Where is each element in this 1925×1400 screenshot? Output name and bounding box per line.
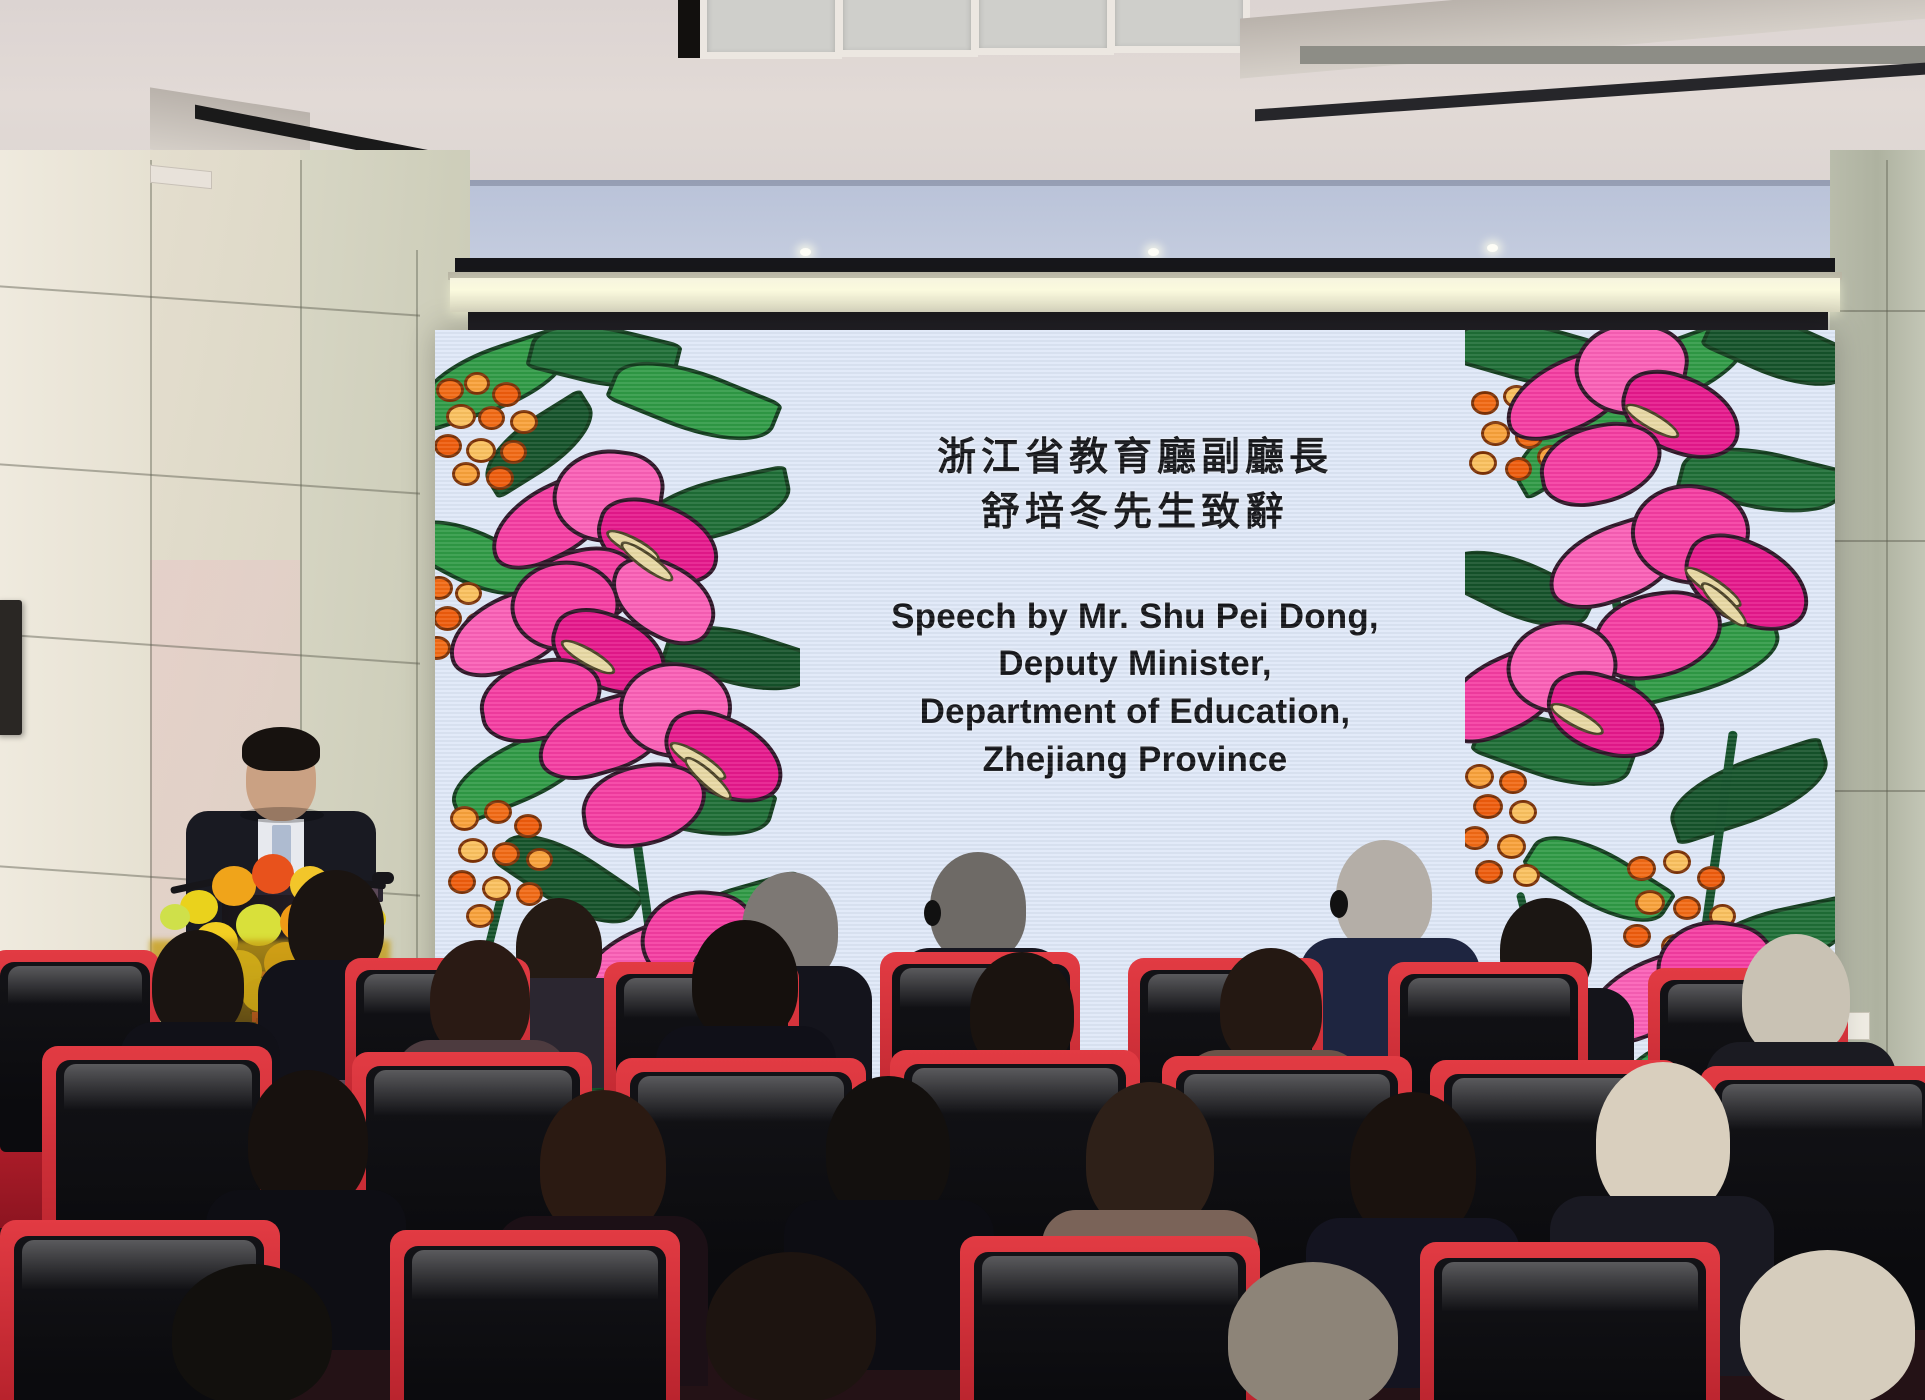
slide-english-line-1: Speech by Mr. Shu Pei Dong, xyxy=(891,593,1379,641)
audience-head xyxy=(1336,840,1432,952)
slide-chinese-line-2: 舒培冬先生致辭 xyxy=(981,485,1289,540)
slide-english-line-3: Department of Education, xyxy=(920,688,1351,736)
speaker-hair xyxy=(242,727,320,771)
chair-highlight xyxy=(1722,1084,1922,1130)
auditorium-scene: 浙江省教育廳副廳長 舒培冬先生致辭 Speech by Mr. Shu Pei … xyxy=(0,0,1925,1400)
interpretation-earpiece xyxy=(924,900,941,926)
wall-right-seam-v-1 xyxy=(1886,160,1888,1160)
leaf xyxy=(1660,736,1835,847)
slide-chinese-line-1: 浙江省教育廳副廳長 xyxy=(937,430,1333,485)
ceiling-grille-panel-3 xyxy=(972,0,1114,55)
audience-head xyxy=(1742,934,1850,1058)
downlight-4 xyxy=(1487,244,1498,252)
wall-outlet-plate xyxy=(1846,1012,1870,1040)
downlight-3 xyxy=(1148,248,1159,256)
wall-right-seam-h-2 xyxy=(1830,540,1925,542)
ceiling-recess-dark-right xyxy=(1300,46,1925,64)
chair-highlight xyxy=(982,1256,1238,1306)
chair-highlight xyxy=(638,1076,844,1122)
wall-speaker xyxy=(0,600,22,735)
slide-english-line-2: Deputy Minister, xyxy=(998,640,1272,688)
ceiling-shadow-gap xyxy=(678,0,700,58)
chair-highlight xyxy=(8,966,142,1004)
chair-highlight xyxy=(1184,1074,1390,1120)
audience-head xyxy=(1220,948,1322,1066)
ceiling-grille-panel-1 xyxy=(700,0,842,59)
chair-highlight xyxy=(1408,978,1570,1018)
audience-head xyxy=(172,1264,332,1400)
chair-highlight xyxy=(1442,1262,1698,1312)
bauhinia-flower xyxy=(1465,620,1675,820)
slide-english-line-4: Zhejiang Province xyxy=(983,736,1288,784)
ceiling-grille-panel-4 xyxy=(1108,0,1250,53)
wall-right-seam-h-1 xyxy=(1830,310,1925,312)
chair-highlight xyxy=(412,1250,658,1300)
audience-head xyxy=(248,1070,368,1210)
downlight-2 xyxy=(800,248,811,256)
audience-head xyxy=(1740,1250,1915,1400)
bauhinia-flower xyxy=(535,660,785,860)
audience-head xyxy=(692,920,798,1042)
chair-highlight xyxy=(64,1064,252,1110)
wall-right-seam-h-3 xyxy=(1830,790,1925,792)
speaker-shadow xyxy=(240,807,324,823)
chair-highlight xyxy=(374,1070,572,1116)
interpretation-earpiece xyxy=(1330,890,1348,918)
soffit-shadow xyxy=(250,180,1925,186)
ceiling-grille-panel-2 xyxy=(836,0,978,57)
audience-head xyxy=(930,852,1026,962)
audience-head xyxy=(1596,1062,1730,1218)
audience-head xyxy=(1228,1262,1398,1400)
valance-light-strip xyxy=(450,278,1840,312)
chair-highlight xyxy=(912,1068,1118,1114)
audience-head xyxy=(706,1252,876,1400)
